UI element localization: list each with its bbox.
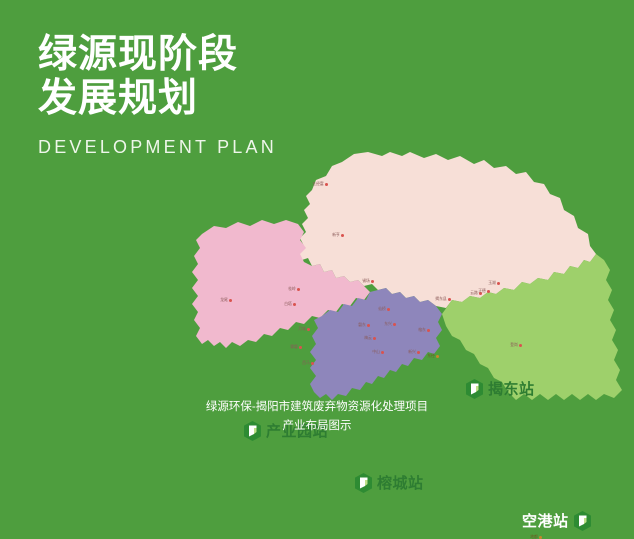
city-label: 梅云: [364, 336, 372, 340]
city-label: 云路: [470, 291, 478, 295]
city-dot-marker: [293, 303, 296, 306]
city-dot: 中山: [372, 350, 384, 354]
city-dot-marker: [229, 299, 232, 302]
city-dot: 梅云: [364, 336, 376, 340]
city-label: 新兴: [408, 350, 416, 354]
map-svg: [192, 150, 634, 406]
page-title-line-2: 发展规划: [38, 77, 277, 121]
city-dot-marker: [367, 324, 370, 327]
city-label: 新亨: [332, 233, 340, 237]
city-dot: 东兴: [384, 322, 396, 326]
city-dot-marker: [387, 308, 390, 311]
city-dot: 白塔: [284, 302, 296, 306]
city-dot: 地都: [530, 535, 542, 539]
city-label: 东径: [427, 354, 435, 358]
city-dot-marker: [487, 290, 490, 293]
city-dot: 正德: [478, 289, 490, 293]
company-logo-icon: [574, 511, 591, 531]
city-dot-marker: [381, 351, 384, 354]
station-label: 揭东站: [488, 378, 535, 399]
city-dot: 榕东: [418, 328, 430, 332]
city-dot-marker: [325, 183, 328, 186]
city-dot-marker: [497, 282, 500, 285]
city-dot-marker: [371, 280, 374, 283]
city-dot: 龙尾: [220, 298, 232, 302]
city-dot: 霖磐: [290, 345, 302, 349]
city-label: 锡场: [362, 279, 370, 283]
city-dot: 磐东: [358, 323, 370, 327]
city-dot-marker: [417, 351, 420, 354]
city-dot-marker: [311, 362, 314, 365]
city-label: 登岗: [510, 343, 518, 347]
city-label: 中山: [372, 350, 380, 354]
station-label: 空港站: [522, 510, 569, 531]
city-label: 桂岭: [288, 287, 296, 291]
title-block: 绿源现阶段 发展规划 DEVELOPMENT PLAN: [38, 33, 277, 158]
city-dot: 揭东县: [435, 297, 451, 301]
station-marker-rongcheng[interactable]: 榕城站: [355, 472, 424, 493]
city-dot: 登岗: [510, 343, 522, 347]
slide-root: 绿源现阶段 发展规划 DEVELOPMENT PLAN 揭东站: [0, 0, 634, 453]
company-logo-icon: [355, 473, 372, 493]
city-label: 白塔: [284, 302, 292, 306]
city-dot: 五经富: [312, 182, 328, 186]
city-label: 正德: [478, 289, 486, 293]
city-dot-marker: [539, 536, 542, 539]
station-marker-jiedong[interactable]: 揭东站: [466, 378, 535, 399]
city-dot-marker: [427, 329, 430, 332]
city-dot: 东径: [427, 354, 439, 358]
city-dot: 新亨: [332, 233, 344, 237]
caption: 绿源环保-揭阳市建筑废弃物资源化处理项目 产业布局图示: [0, 398, 634, 436]
city-label: 磐东: [358, 323, 366, 327]
city-dot-marker: [297, 288, 300, 291]
page-title-line-1: 绿源现阶段: [38, 33, 277, 77]
city-label: 榕东: [418, 328, 426, 332]
city-dot-marker: [519, 344, 522, 347]
city-label: 东兴: [384, 322, 392, 326]
city-label: 五经富: [312, 182, 323, 186]
company-logo-icon: [466, 379, 483, 399]
city-dot-marker: [436, 355, 439, 358]
city-label: 西马: [302, 361, 310, 365]
city-label: 玉湖: [488, 281, 496, 285]
city-label: 仙桥: [378, 307, 386, 311]
city-dot: 西马: [302, 361, 314, 365]
city-dot: 锡场: [362, 279, 374, 283]
city-label: 月城: [298, 327, 306, 331]
city-dot: 新兴: [408, 350, 420, 354]
city-dot-marker: [307, 328, 310, 331]
station-label: 榕城站: [377, 472, 424, 493]
city-dot-marker: [299, 346, 302, 349]
city-dot: 月城: [298, 327, 310, 331]
city-dot-marker: [448, 298, 451, 301]
city-dot: 桂岭: [288, 287, 300, 291]
city-dot: 玉湖: [488, 281, 500, 285]
city-dot-marker: [341, 234, 344, 237]
city-label: 龙尾: [220, 298, 228, 302]
city-label: 揭东县: [435, 297, 446, 301]
city-label: 霖磐: [290, 345, 298, 349]
caption-line-2: 产业布局图示: [0, 417, 634, 436]
city-dot: 仙桥: [378, 307, 390, 311]
city-label: 地都: [530, 535, 538, 539]
station-marker-konggang[interactable]: 空港站: [522, 510, 591, 531]
city-dot-marker: [393, 323, 396, 326]
city-dot-marker: [373, 337, 376, 340]
caption-line-1: 绿源环保-揭阳市建筑废弃物资源化处理项目: [0, 398, 634, 417]
map-container: 揭东站 产业园站 榕城站 空港站: [192, 150, 634, 406]
